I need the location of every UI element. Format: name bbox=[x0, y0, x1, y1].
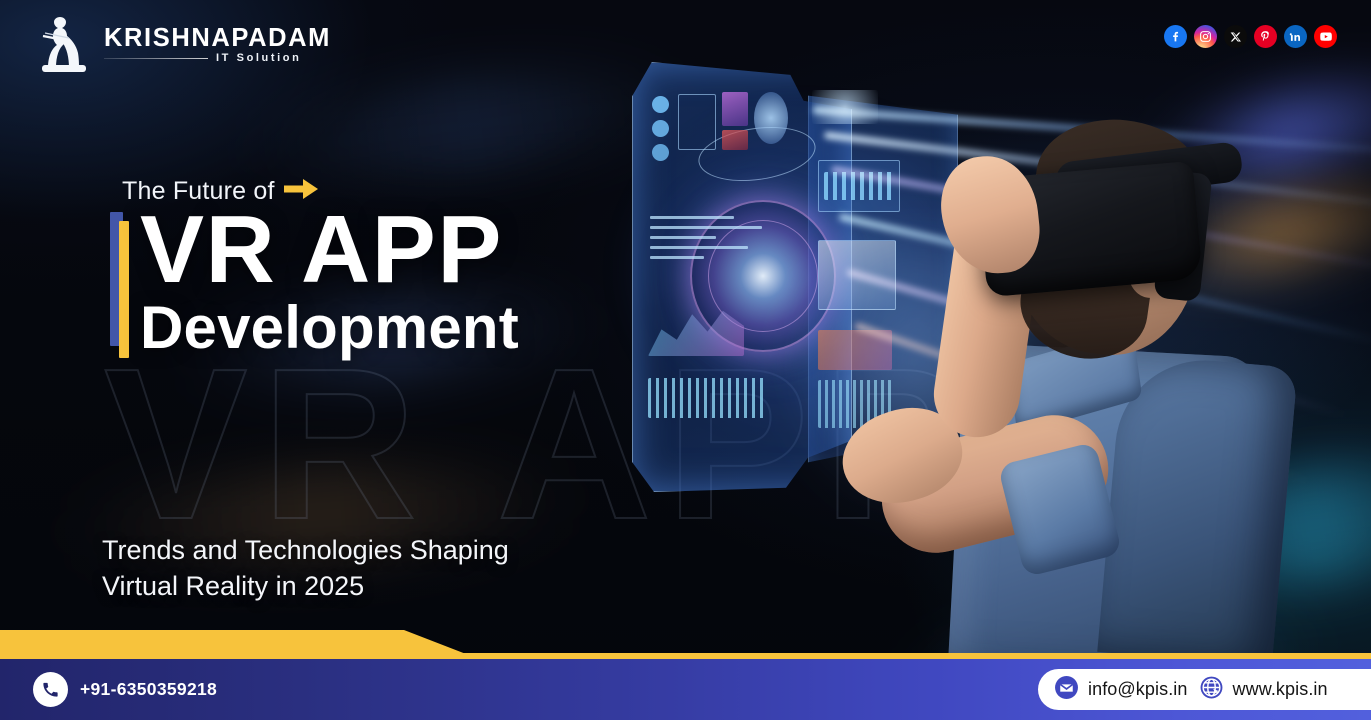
x-twitter-icon[interactable] bbox=[1224, 25, 1247, 48]
pinterest-icon[interactable] bbox=[1254, 25, 1277, 48]
hero-title-line2: Development bbox=[140, 298, 519, 358]
hero-title-line1: VR APP bbox=[140, 202, 503, 298]
brand-name: KRISHNAPADAM bbox=[104, 26, 331, 52]
envelope-icon bbox=[1054, 675, 1079, 705]
facebook-icon[interactable] bbox=[1164, 25, 1187, 48]
brand-logo[interactable]: KRISHNAPADAM IT Solution bbox=[36, 16, 331, 74]
hero-tagline: Trends and Technologies Shaping Virtual … bbox=[102, 532, 509, 604]
krishna-flute-icon bbox=[36, 16, 92, 74]
youtube-icon[interactable] bbox=[1314, 25, 1337, 48]
phone-icon bbox=[33, 672, 68, 707]
brand-tagline-row: IT Solution bbox=[104, 53, 331, 64]
logo-divider bbox=[104, 58, 208, 59]
contact-pill[interactable]: info@kpis.in www.kpis.in bbox=[1038, 669, 1371, 710]
vr-app-development-banner: VR APP bbox=[0, 0, 1371, 720]
social-links[interactable] bbox=[1164, 25, 1337, 48]
website-contact[interactable]: www.kpis.in bbox=[1199, 675, 1328, 705]
footer-bar: +91-6350359218 info@kpis.in www.kpis.in bbox=[0, 659, 1371, 720]
brand-tagline: IT Solution bbox=[216, 53, 301, 64]
email-contact[interactable]: info@kpis.in bbox=[1054, 675, 1188, 705]
phone-contact[interactable]: +91-6350359218 bbox=[33, 672, 217, 707]
hero-tagline-line2: Virtual Reality in 2025 bbox=[102, 568, 509, 604]
accent-bar-yellow bbox=[119, 221, 129, 358]
vr-user-photo bbox=[860, 60, 1290, 660]
globe-icon bbox=[1199, 675, 1224, 705]
website-url: www.kpis.in bbox=[1233, 679, 1328, 700]
email-address: info@kpis.in bbox=[1088, 679, 1188, 700]
hero-tagline-line1: Trends and Technologies Shaping bbox=[102, 532, 509, 568]
brand-logo-text: KRISHNAPADAM IT Solution bbox=[104, 26, 331, 65]
phone-number: +91-6350359218 bbox=[80, 679, 217, 700]
instagram-icon[interactable] bbox=[1194, 25, 1217, 48]
linkedin-icon[interactable] bbox=[1284, 25, 1307, 48]
